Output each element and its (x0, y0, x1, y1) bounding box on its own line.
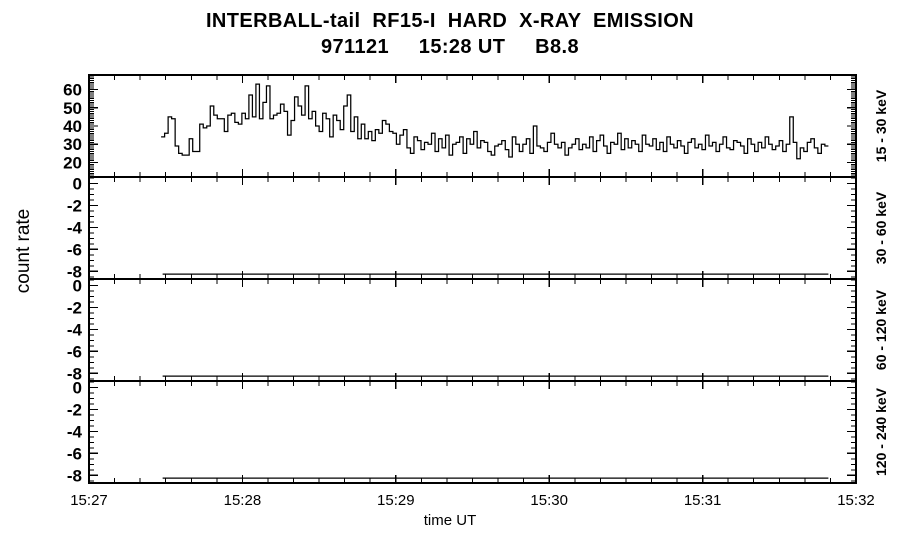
panel-2-band-label: 30 - 60 keV (873, 191, 889, 264)
panel-1-yticklabel: 60 (63, 81, 82, 100)
panel-3-yticklabel: -4 (67, 320, 83, 339)
x-tick-label: 15:32 (837, 492, 875, 509)
panel-1-frame (89, 75, 856, 177)
panel-1-yticklabel: 40 (63, 117, 82, 136)
panel-3-band-label: 60 - 120 keV (873, 289, 889, 370)
panel-1-yticklabel: 30 (63, 135, 82, 154)
panel-3-yticklabel: -6 (67, 342, 82, 361)
panel-4-band-label: 120 - 240 keV (873, 387, 889, 476)
panel-4-yticklabel: -2 (67, 401, 82, 420)
panel-1-yticklabel: 20 (63, 153, 82, 172)
panel-2-yticklabel: -2 (67, 197, 82, 216)
panel-4-yticklabel: -6 (67, 444, 82, 463)
panel-2-yticklabel: -6 (67, 240, 82, 259)
plot-svg: 203040506015 - 30 keV-8-6-4-2030 - 60 ke… (0, 0, 900, 548)
panel-1-yticklabel: 50 (63, 99, 82, 118)
x-tick-label: 15:29 (377, 492, 415, 509)
panel-3-yticklabel: -2 (67, 299, 82, 318)
panel-2-frame (89, 177, 856, 279)
panel-4-yticklabel: -4 (67, 422, 83, 441)
panel-1-data-trace (161, 84, 828, 159)
panel-1-band-label: 15 - 30 keV (873, 89, 889, 162)
panel-2-yticklabel: 0 (73, 175, 82, 194)
x-tick-label: 15:27 (70, 492, 108, 509)
panel-3-frame (89, 279, 856, 381)
panel-2-yticklabel: -4 (67, 218, 83, 237)
x-tick-label: 15:28 (224, 492, 262, 509)
figure-root: INTERBALL-tail RF15-I HARD X-RAY EMISSIO… (0, 0, 900, 548)
x-tick-label: 15:30 (530, 492, 568, 509)
panel-3-yticklabel: 0 (73, 277, 82, 296)
x-tick-label: 15:31 (684, 492, 722, 509)
panel-4-yticklabel: 0 (73, 379, 82, 398)
panel-4-yticklabel: -8 (67, 466, 82, 485)
panel-4-frame (89, 381, 856, 483)
